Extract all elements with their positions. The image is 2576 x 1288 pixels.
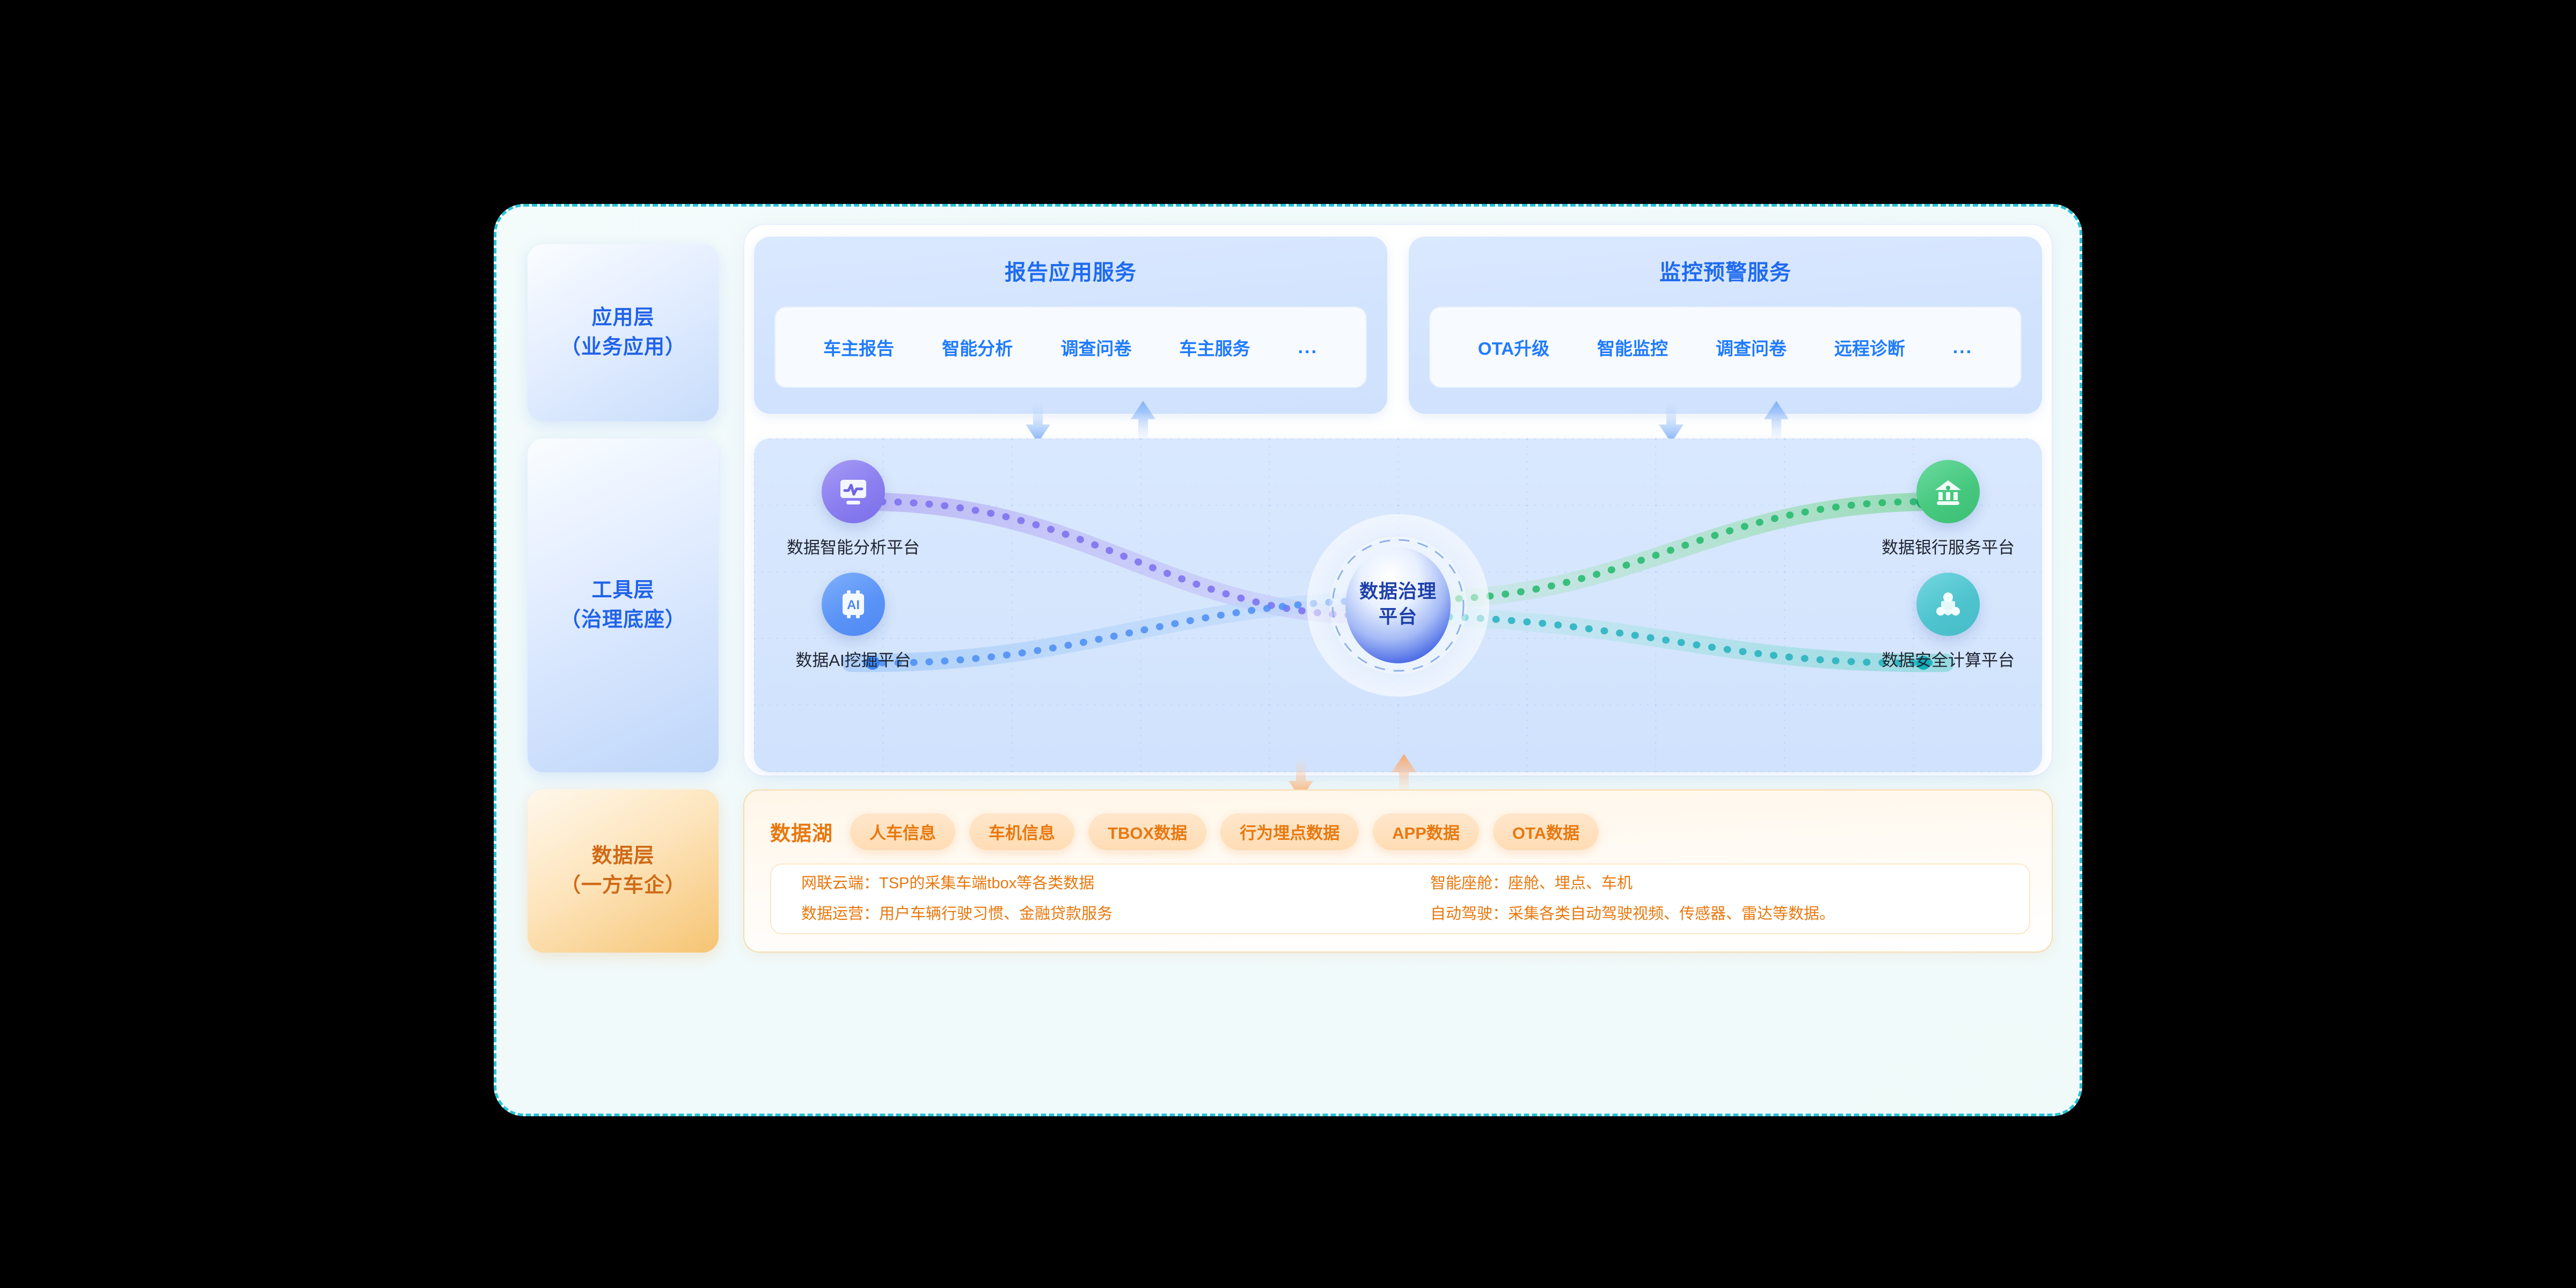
tool-node-label: 数据银行服务平台 xyxy=(1881,534,2015,558)
arrow-down-icon xyxy=(1026,401,1050,443)
tool-node-label: 数据智能分析平台 xyxy=(786,534,920,558)
app-item[interactable]: OTA升级 xyxy=(1478,334,1549,360)
app-item-more[interactable]: ... xyxy=(1298,337,1318,358)
application-card-title: 报告应用服务 xyxy=(754,255,1387,286)
data-descriptions-left: 网联云端：TSP的采集车端tbox等各类数据 数据运营：用户车辆行驶习惯、金融贷… xyxy=(771,868,1400,929)
application-layer: 报告应用服务 车主报告 智能分析 调查问卷 车主服务 ... 监控预警服务 OT… xyxy=(754,237,2042,414)
layer-data-line1: 数据层 xyxy=(591,845,654,867)
tool-layer-canvas xyxy=(754,438,2042,772)
app-item[interactable]: 智能监控 xyxy=(1597,334,1668,360)
layer-label-application: 应用层 （业务应用） xyxy=(528,244,719,421)
application-card-items: 车主报告 智能分析 调查问卷 车主服务 ... xyxy=(774,306,1367,388)
tool-node-security[interactable]: 数据安全计算平台 xyxy=(1881,573,2015,671)
application-card-items: OTA升级 智能监控 调查问卷 远程诊断 ... xyxy=(1429,306,2022,388)
data-description-line: 自动驾驶：采集各类自动驾驶视频、传感器、雷达等数据。 xyxy=(1430,899,2029,930)
application-card-title: 监控预警服务 xyxy=(1409,255,2042,286)
app-item[interactable]: 调查问卷 xyxy=(1060,334,1131,360)
tool-node-bank[interactable]: 数据银行服务平台 xyxy=(1881,460,2015,558)
layer-label-tool: 工具层 （治理底座） xyxy=(528,438,719,772)
app-item[interactable]: 调查问卷 xyxy=(1716,334,1787,360)
app-item[interactable]: 智能分析 xyxy=(942,334,1013,360)
layer-tool-line1: 工具层 xyxy=(591,579,654,602)
data-tag[interactable]: OTA数据 xyxy=(1493,813,1599,850)
data-lake-tags: 数据湖 人车信息 车机信息 TBOX数据 行为埋点数据 APP数据 OTA数据 xyxy=(770,809,2030,854)
app-item-more[interactable]: ... xyxy=(1953,337,1973,358)
layer-tool-line2: （治理底座） xyxy=(560,605,686,635)
arrow-down-icon xyxy=(1659,401,1684,443)
monitor-chart-icon xyxy=(822,460,885,523)
layer-application-line1: 应用层 xyxy=(591,306,654,329)
shield-network-icon xyxy=(1916,573,1980,636)
arrow-up-icon xyxy=(1764,401,1789,443)
app-item[interactable]: 车主报告 xyxy=(823,334,894,360)
application-card-monitor[interactable]: 监控预警服务 OTA升级 智能监控 调查问卷 远程诊断 ... xyxy=(1409,237,2042,414)
data-tag[interactable]: 人车信息 xyxy=(850,813,955,850)
layer-data-line2: （一方车企） xyxy=(560,871,686,901)
data-description-line: 网联云端：TSP的采集车端tbox等各类数据 xyxy=(801,868,1400,899)
arrow-up-icon xyxy=(1131,401,1155,443)
data-source-descriptions: 网联云端：TSP的采集车端tbox等各类数据 数据运营：用户车辆行驶习惯、金融贷… xyxy=(770,863,2030,934)
tool-layer: 数据治理 平台 数据智能分析平台 xyxy=(754,438,2042,772)
data-description-line: 数据运营：用户车辆行驶习惯、金融贷款服务 xyxy=(801,899,1400,930)
data-tag[interactable]: APP数据 xyxy=(1373,813,1479,850)
data-tag[interactable]: 车机信息 xyxy=(969,813,1074,850)
ai-chip-icon: AI xyxy=(822,573,885,636)
app-item[interactable]: 远程诊断 xyxy=(1834,334,1905,360)
data-tag[interactable]: TBOX数据 xyxy=(1088,813,1206,850)
svg-text:AI: AI xyxy=(847,598,860,612)
layer-label-data: 数据层 （一方车企） xyxy=(528,789,719,953)
bank-icon xyxy=(1916,460,1980,523)
tool-node-label: 数据AI挖掘平台 xyxy=(786,647,920,671)
data-tag[interactable]: 行为埋点数据 xyxy=(1220,813,1359,850)
data-descriptions-right: 智能座舱：座舱、埋点、车机 自动驾驶：采集各类自动驾驶视频、传感器、雷达等数据。 xyxy=(1400,868,2029,929)
tool-node-analysis[interactable]: 数据智能分析平台 xyxy=(786,460,920,558)
data-layer: 数据湖 人车信息 车机信息 TBOX数据 行为埋点数据 APP数据 OTA数据 … xyxy=(743,789,2053,953)
application-card-report[interactable]: 报告应用服务 车主报告 智能分析 调查问卷 车主服务 ... xyxy=(754,237,1387,414)
tool-node-ai[interactable]: AI 数据AI挖掘平台 xyxy=(786,573,920,671)
app-item[interactable]: 车主服务 xyxy=(1179,334,1250,360)
tool-node-label: 数据安全计算平台 xyxy=(1881,647,2015,671)
diagram-frame: 应用层 （业务应用） 工具层 （治理底座） 数据层 （一方车企） 报告应用服务 … xyxy=(494,204,2082,1116)
data-lake-label: 数据湖 xyxy=(770,817,833,846)
layer-application-line2: （业务应用） xyxy=(560,333,686,362)
data-description-line: 智能座舱：座舱、埋点、车机 xyxy=(1430,868,2029,899)
